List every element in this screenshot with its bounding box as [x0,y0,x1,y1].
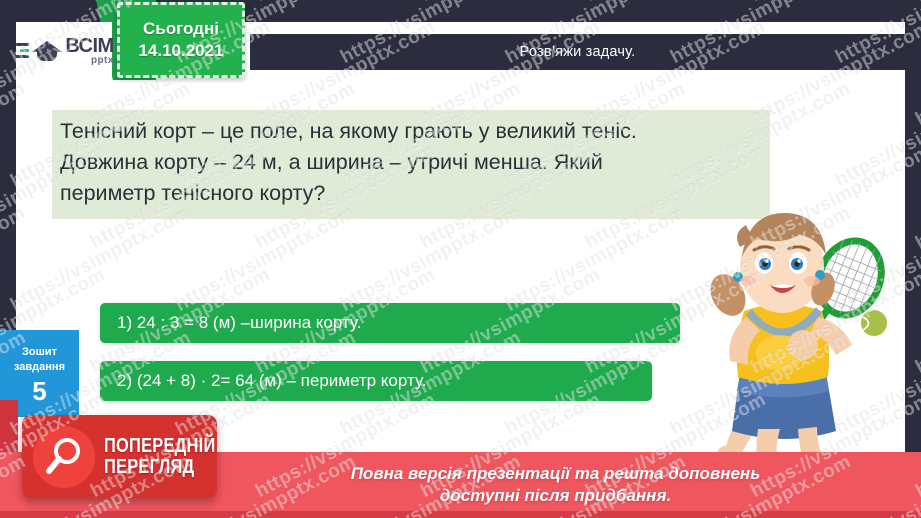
date-badge: Сьогодні 14.10.2021 [117,2,245,78]
preview-label-2: ПЕРЕГЛЯД [104,457,215,478]
logo-wordmark: ВСІМ [65,36,113,56]
hand-grip [788,330,818,360]
brand-logo: ВСІМ pptx [16,22,112,79]
answer-step-2: 2) (24 + 8) · 2= 64 (м) – периметр корту… [100,361,652,401]
watermark-text: https://vsimpptx.com [912,16,921,130]
girl-playing-tennis-illustration [690,205,915,490]
banner-underbar [0,511,921,518]
problem-statement-block: Тенісний корт – це поле, на якому грають… [52,110,770,219]
logo-subtext: pptx [65,56,113,66]
notebook-label-2: завдання [14,360,65,375]
answer-step-1: 1) 24 : 3 = 8 (м) –ширина корту. [100,303,680,343]
slide-canvas: Розв’яжи задачу. ВСІМ pptx Сьогодні 14.1… [0,0,921,518]
tennis-ball-icon [861,310,887,336]
preview-label-1: ПОПЕРЕДНІЙ [104,436,215,457]
page-title: Розв’яжи задачу. [520,44,636,60]
notebook-label-1: Зошит [22,345,57,360]
red-side-strip [0,400,18,452]
banner-line-2: доступні після придбання. [440,485,671,507]
date-value: 14.10.2021 [138,42,223,60]
slide-title-bar: Розв’яжи задачу. [250,34,905,70]
preview-watermark-chip: ПОПЕРЕДНІЙ ПЕРЕГЛЯД [22,415,217,498]
speed-lines-icon [14,43,29,58]
answer-step-1-text: 1) 24 : 3 = 8 (м) –ширина корту. [117,313,361,333]
magnifier-icon [33,426,95,488]
problem-text: Тенісний корт – це поле, на якому грають… [60,116,766,209]
graduation-cap-icon [32,39,62,63]
notebook-task-number: 5 [32,377,46,406]
banner-line-1: Повна версія презентації та решта доповн… [351,463,761,485]
answer-step-2-text: 2) (24 + 8) · 2= 64 (м) – периметр корту… [117,371,426,391]
date-label: Сьогодні [143,20,219,38]
